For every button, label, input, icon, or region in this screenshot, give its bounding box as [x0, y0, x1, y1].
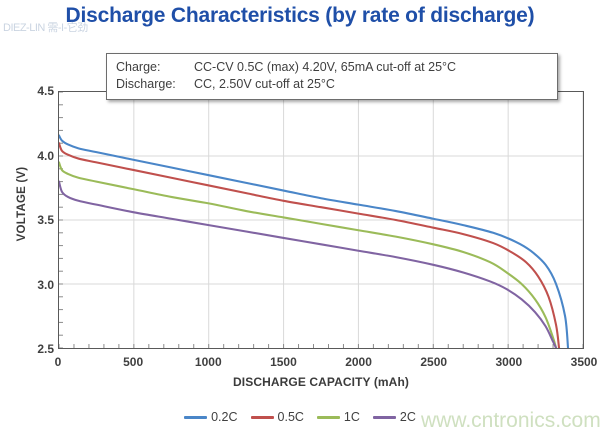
- x-axis-ticks: 0500100015002000250030003500: [58, 355, 584, 373]
- legend-item-2c[interactable]: 2C: [373, 410, 416, 424]
- charge-value: CC-CV 0.5C (max) 4.20V, 65mA cut-off at …: [194, 59, 548, 76]
- y-tick-label: 4.5: [20, 84, 54, 98]
- charge-condition-row: Charge: CC-CV 0.5C (max) 4.20V, 65mA cut…: [116, 59, 548, 76]
- y-tick-label: 2.5: [20, 342, 54, 356]
- x-tick-label: 0: [28, 355, 88, 369]
- legend-label: 0.2C: [211, 410, 237, 424]
- legend-label: 1C: [344, 410, 360, 424]
- x-tick-label: 500: [103, 355, 163, 369]
- discharge-label: Discharge:: [116, 76, 194, 93]
- legend-label: 2C: [400, 410, 416, 424]
- x-tick-label: 2500: [404, 355, 464, 369]
- legend-swatch-icon: [373, 416, 396, 419]
- legend-item-0-2c[interactable]: 0.2C: [184, 410, 237, 424]
- plot-svg: [59, 92, 583, 348]
- x-tick-label: 1000: [178, 355, 238, 369]
- charge-label: Charge:: [116, 59, 194, 76]
- legend-item-1c[interactable]: 1C: [317, 410, 360, 424]
- x-tick-label: 3500: [554, 355, 600, 369]
- x-tick-label: 2000: [329, 355, 389, 369]
- legend-item-0-5c[interactable]: 0.5C: [251, 410, 304, 424]
- y-axis-title: VOLTAGE (V): [16, 144, 28, 264]
- discharge-condition-row: Discharge: CC, 2.50V cut-off at 25°C: [116, 76, 548, 93]
- x-tick-label: 1500: [253, 355, 313, 369]
- test-conditions-box: Charge: CC-CV 0.5C (max) 4.20V, 65mA cut…: [106, 53, 558, 100]
- legend-swatch-icon: [317, 416, 340, 419]
- discharge-value: CC, 2.50V cut-off at 25°C: [194, 76, 548, 93]
- chart-legend: 0.2C0.5C1C2C: [0, 410, 600, 424]
- legend-swatch-icon: [251, 416, 274, 419]
- legend-swatch-icon: [184, 416, 207, 419]
- plot-area: [58, 91, 584, 349]
- x-tick-label: 3000: [479, 355, 539, 369]
- y-tick-label: 3.0: [20, 278, 54, 292]
- chart-container: Discharge Characteristics (by rate of di…: [0, 0, 600, 440]
- x-axis-title: DISCHARGE CAPACITY (mAh): [58, 375, 584, 389]
- series-lines: [59, 136, 568, 348]
- chart-title: Discharge Characteristics (by rate of di…: [0, 4, 600, 28]
- legend-label: 0.5C: [278, 410, 304, 424]
- gridlines: [59, 92, 583, 348]
